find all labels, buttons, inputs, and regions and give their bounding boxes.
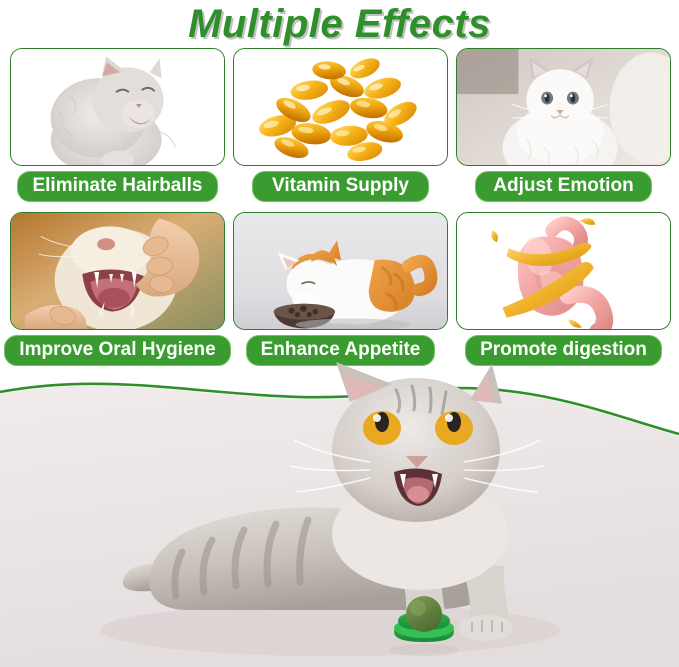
benefit-image-adjust-emotion bbox=[456, 48, 671, 166]
benefit-card-vitamin-supply[interactable]: Vitamin Supply bbox=[233, 48, 448, 202]
benefit-card-promote-digestion[interactable]: Promote digestion bbox=[456, 212, 671, 366]
benefit-card-enhance-appetite[interactable]: Enhance Appetite bbox=[233, 212, 448, 366]
benefit-card-improve-oral-hygiene[interactable]: Improve Oral Hygiene bbox=[10, 212, 225, 366]
benefit-image-promote-digestion bbox=[456, 212, 671, 330]
page-title: Multiple Effects bbox=[0, 0, 679, 46]
benefit-image-vitamin-supply bbox=[233, 48, 448, 166]
benefits-grid: Eliminate Hairballs bbox=[10, 48, 672, 366]
benefit-label-eliminate-hairballs: Eliminate Hairballs bbox=[17, 171, 217, 202]
benefits-panel: Multiple Effects bbox=[0, 0, 679, 368]
hero-section bbox=[0, 358, 679, 667]
benefit-image-eliminate-hairballs bbox=[10, 48, 225, 166]
benefit-label-adjust-emotion: Adjust Emotion bbox=[475, 171, 651, 202]
benefit-image-improve-oral-hygiene bbox=[10, 212, 225, 330]
benefit-image-enhance-appetite bbox=[233, 212, 448, 330]
benefit-card-adjust-emotion[interactable]: Adjust Emotion bbox=[456, 48, 671, 202]
benefit-card-eliminate-hairballs[interactable]: Eliminate Hairballs bbox=[10, 48, 225, 202]
benefit-label-vitamin-supply: Vitamin Supply bbox=[252, 171, 428, 202]
